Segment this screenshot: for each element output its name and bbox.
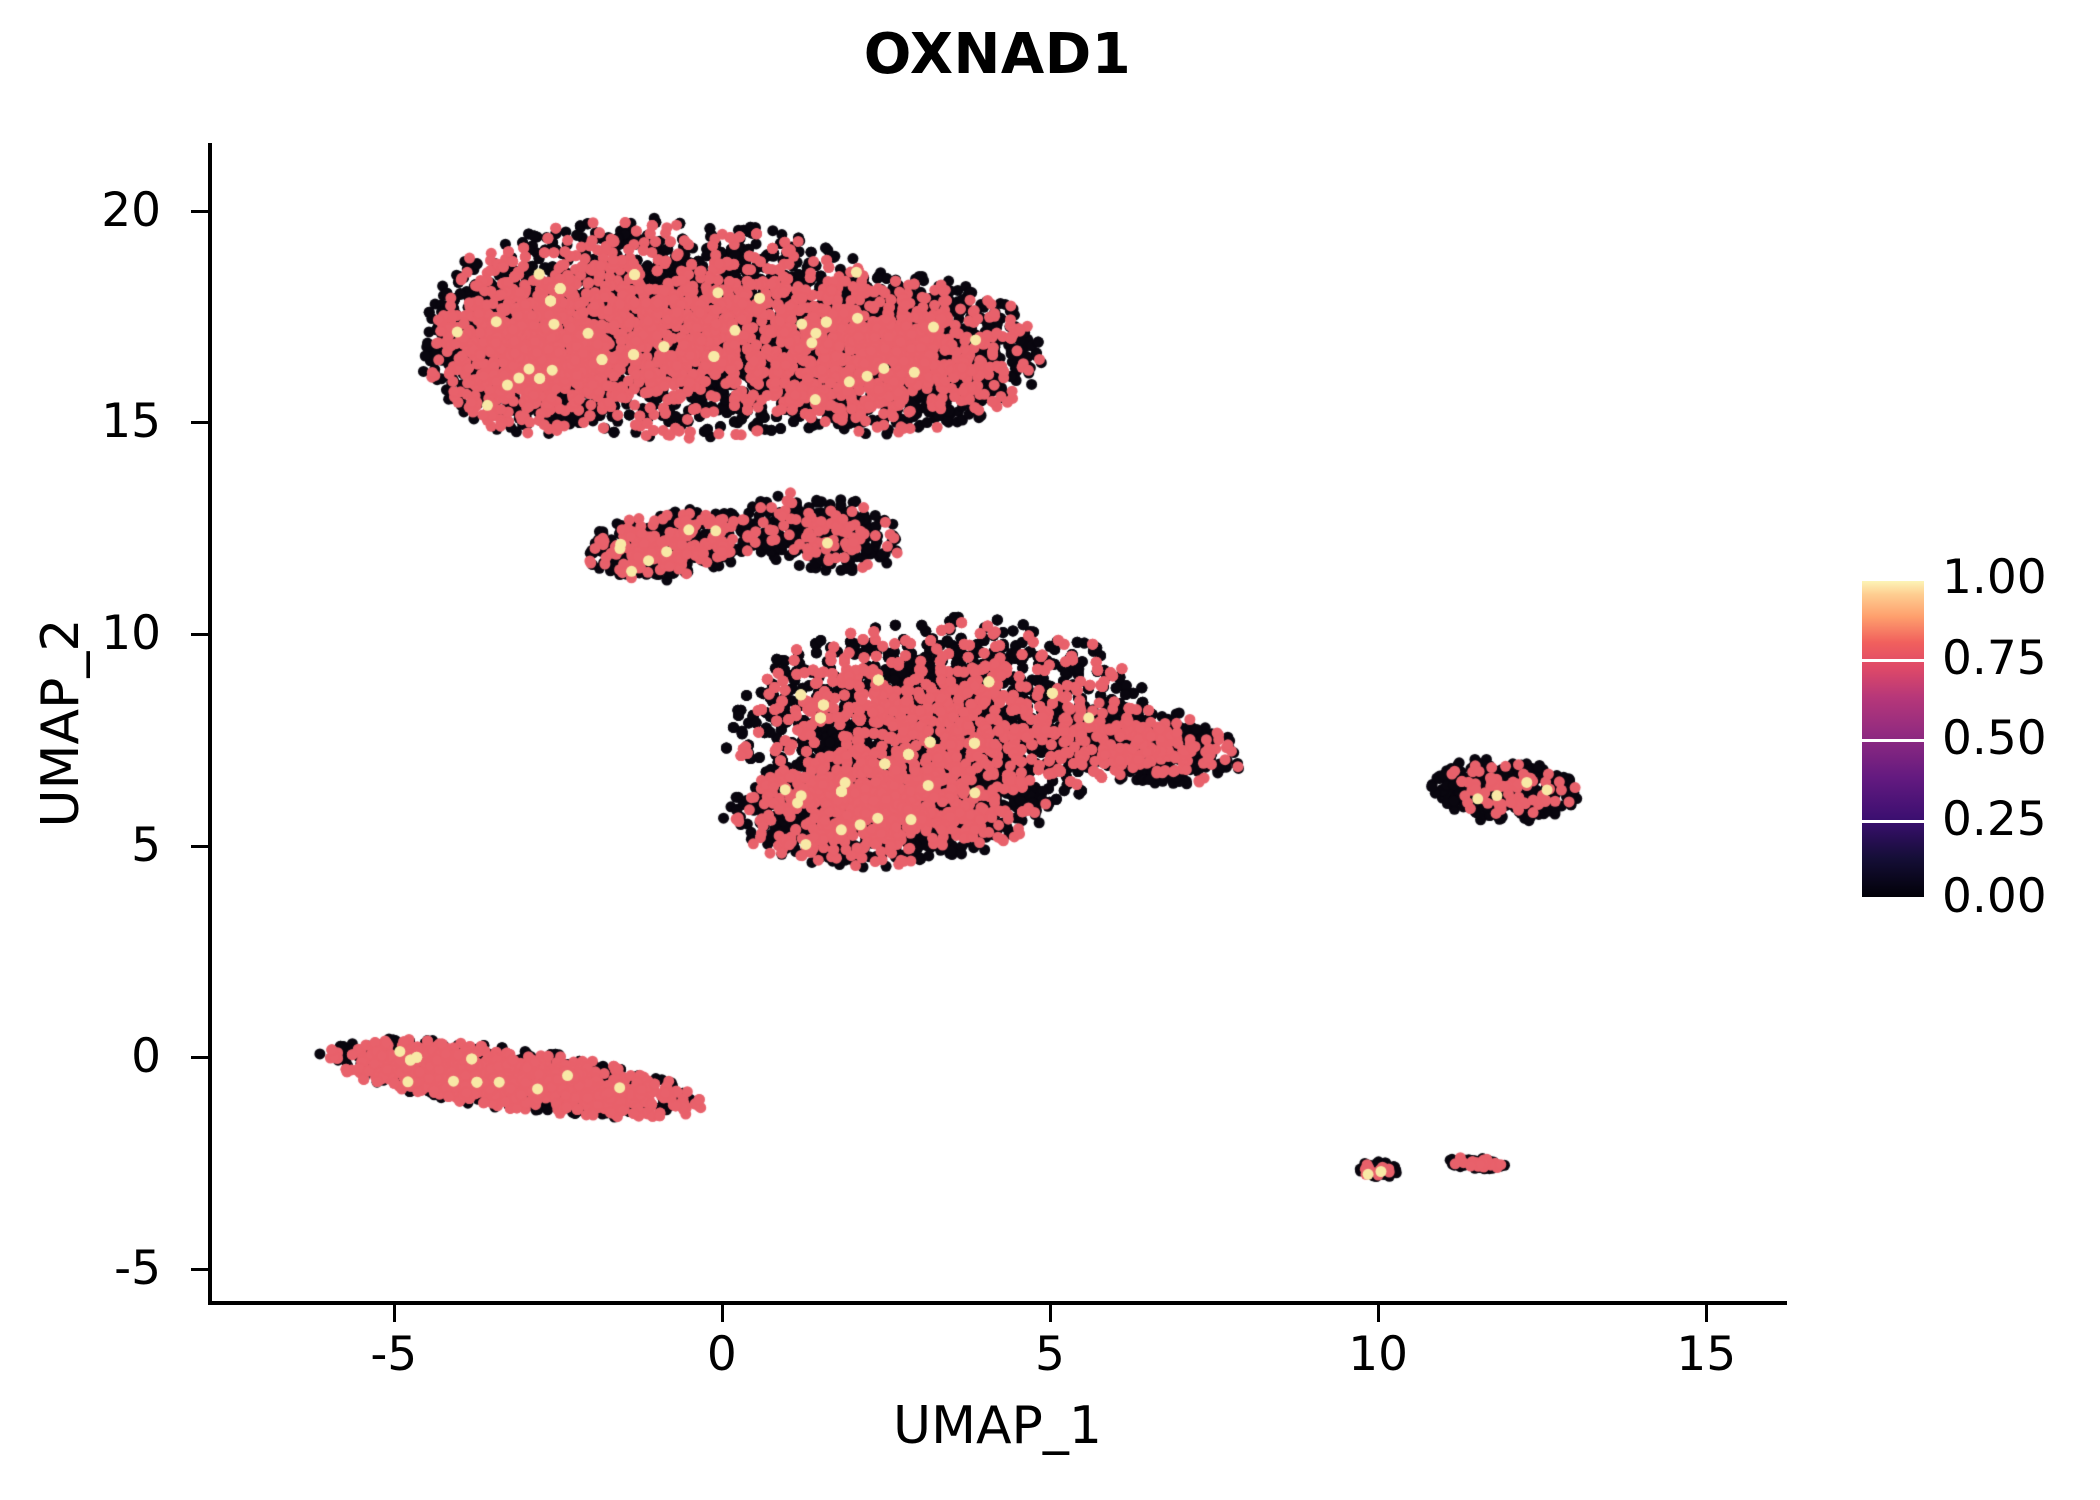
y-tick-mark <box>191 633 208 636</box>
x-tick-mark <box>721 1305 724 1322</box>
y-tick-mark <box>191 845 208 848</box>
colorbar-tick-label: 0.75 <box>1942 635 2047 682</box>
colorbar-tick-mark <box>1862 739 1924 742</box>
colorbar-tick-label: 0.00 <box>1942 873 2047 920</box>
colorbar: 1.000.750.500.250.00 <box>1862 578 2092 900</box>
x-tick-mark <box>1377 1305 1380 1322</box>
x-tick-mark <box>393 1305 396 1322</box>
x-axis-label: UMAP_1 <box>210 1396 1785 1456</box>
colorbar-tick-label: 1.00 <box>1942 554 2047 601</box>
x-tick-label: 10 <box>1248 1331 1508 1378</box>
x-tick-label: 15 <box>1576 1331 1836 1378</box>
x-tick-label: -5 <box>264 1331 524 1378</box>
y-tick-mark <box>191 1056 208 1059</box>
colorbar-tick-mark <box>1862 659 1924 662</box>
y-axis-spine <box>208 143 212 1305</box>
y-axis-label: UMAP_2 <box>31 373 91 1073</box>
colorbar-tick-label: 0.25 <box>1942 796 2047 843</box>
plot-area <box>210 143 1785 1303</box>
x-tick-mark <box>1705 1305 1708 1322</box>
colorbar-tick-mark <box>1862 897 1924 900</box>
x-tick-label: 5 <box>920 1331 1180 1378</box>
x-tick-label: 0 <box>592 1331 852 1378</box>
y-tick-mark <box>191 210 208 213</box>
colorbar-tick-mark <box>1862 578 1924 581</box>
y-tick-label: -5 <box>0 1245 161 1292</box>
page-title: OXNAD1 <box>210 22 1785 88</box>
y-tick-mark <box>191 421 208 424</box>
x-axis-spine <box>208 1301 1787 1305</box>
umap-feature-plot-figure: OXNAD1 -505101520 -5051015 UMAP_1 UMAP_2… <box>0 0 2100 1500</box>
y-tick-mark <box>191 1268 208 1271</box>
x-tick-mark <box>1049 1305 1052 1322</box>
y-tick-label: 20 <box>0 187 161 234</box>
scatter-canvas <box>210 143 1785 1303</box>
colorbar-tick-label: 0.50 <box>1942 715 2047 762</box>
colorbar-tick-mark <box>1862 820 1924 823</box>
